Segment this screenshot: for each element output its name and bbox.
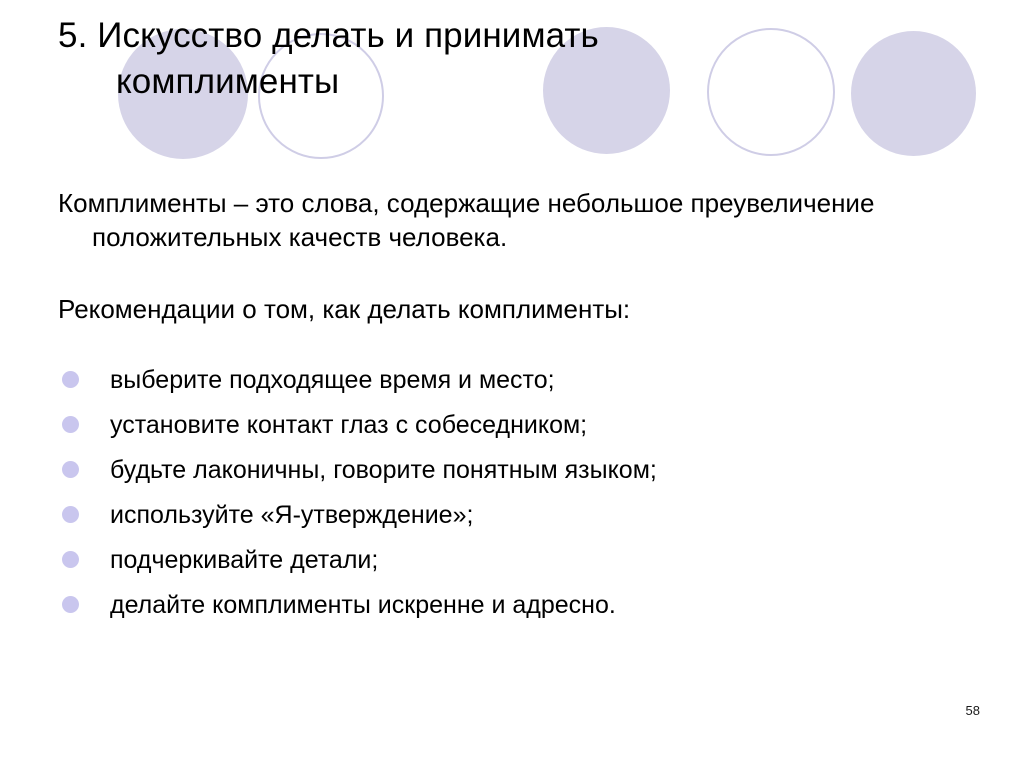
list-item-label: будьте лаконичны, говорите понятным язык… [110, 455, 657, 485]
recommendations-heading: Рекомендации о том, как делать комплимен… [58, 292, 958, 326]
bullet-dot-icon [62, 551, 79, 568]
list-item: подчеркивайте детали; [58, 537, 958, 582]
bullet-dot-icon [62, 416, 79, 433]
list-item: установите контакт глаз с собеседником; [58, 402, 958, 447]
paragraph-spacer [58, 254, 958, 292]
slide-canvas: 5. Искусство делать и принимать комплиме… [0, 0, 1024, 767]
list-item: будьте лаконичны, говорите понятным язык… [58, 447, 958, 492]
list-item-label: установите контакт глаз с собеседником; [110, 410, 587, 440]
list-item-label: подчеркивайте детали; [110, 545, 378, 575]
definition-paragraph: Комплименты – это слова, содержащие небо… [58, 186, 958, 254]
list-item: выберите подходящее время и место; [58, 357, 958, 402]
list-item: используйте «Я-утверждение»; [58, 492, 958, 537]
bullet-dot-icon [62, 371, 79, 388]
bullet-dot-icon [62, 461, 79, 478]
recommendations-list: выберите подходящее время и место;устано… [58, 357, 958, 627]
list-item-label: используйте «Я-утверждение»; [110, 500, 473, 530]
slide-title: 5. Искусство делать и принимать комплиме… [58, 13, 888, 105]
list-item-label: делайте комплименты искренне и адресно. [110, 590, 616, 620]
bullet-dot-icon [62, 596, 79, 613]
page-number: 58 [966, 703, 980, 719]
title-line-1: 5. Искусство делать и принимать [58, 13, 888, 59]
list-item: делайте комплименты искренне и адресно. [58, 582, 958, 627]
title-line-2: комплименты [58, 59, 888, 105]
bullet-dot-icon [62, 506, 79, 523]
list-item-label: выберите подходящее время и место; [110, 365, 555, 395]
body-text-block: Комплименты – это слова, содержащие небо… [58, 186, 958, 326]
